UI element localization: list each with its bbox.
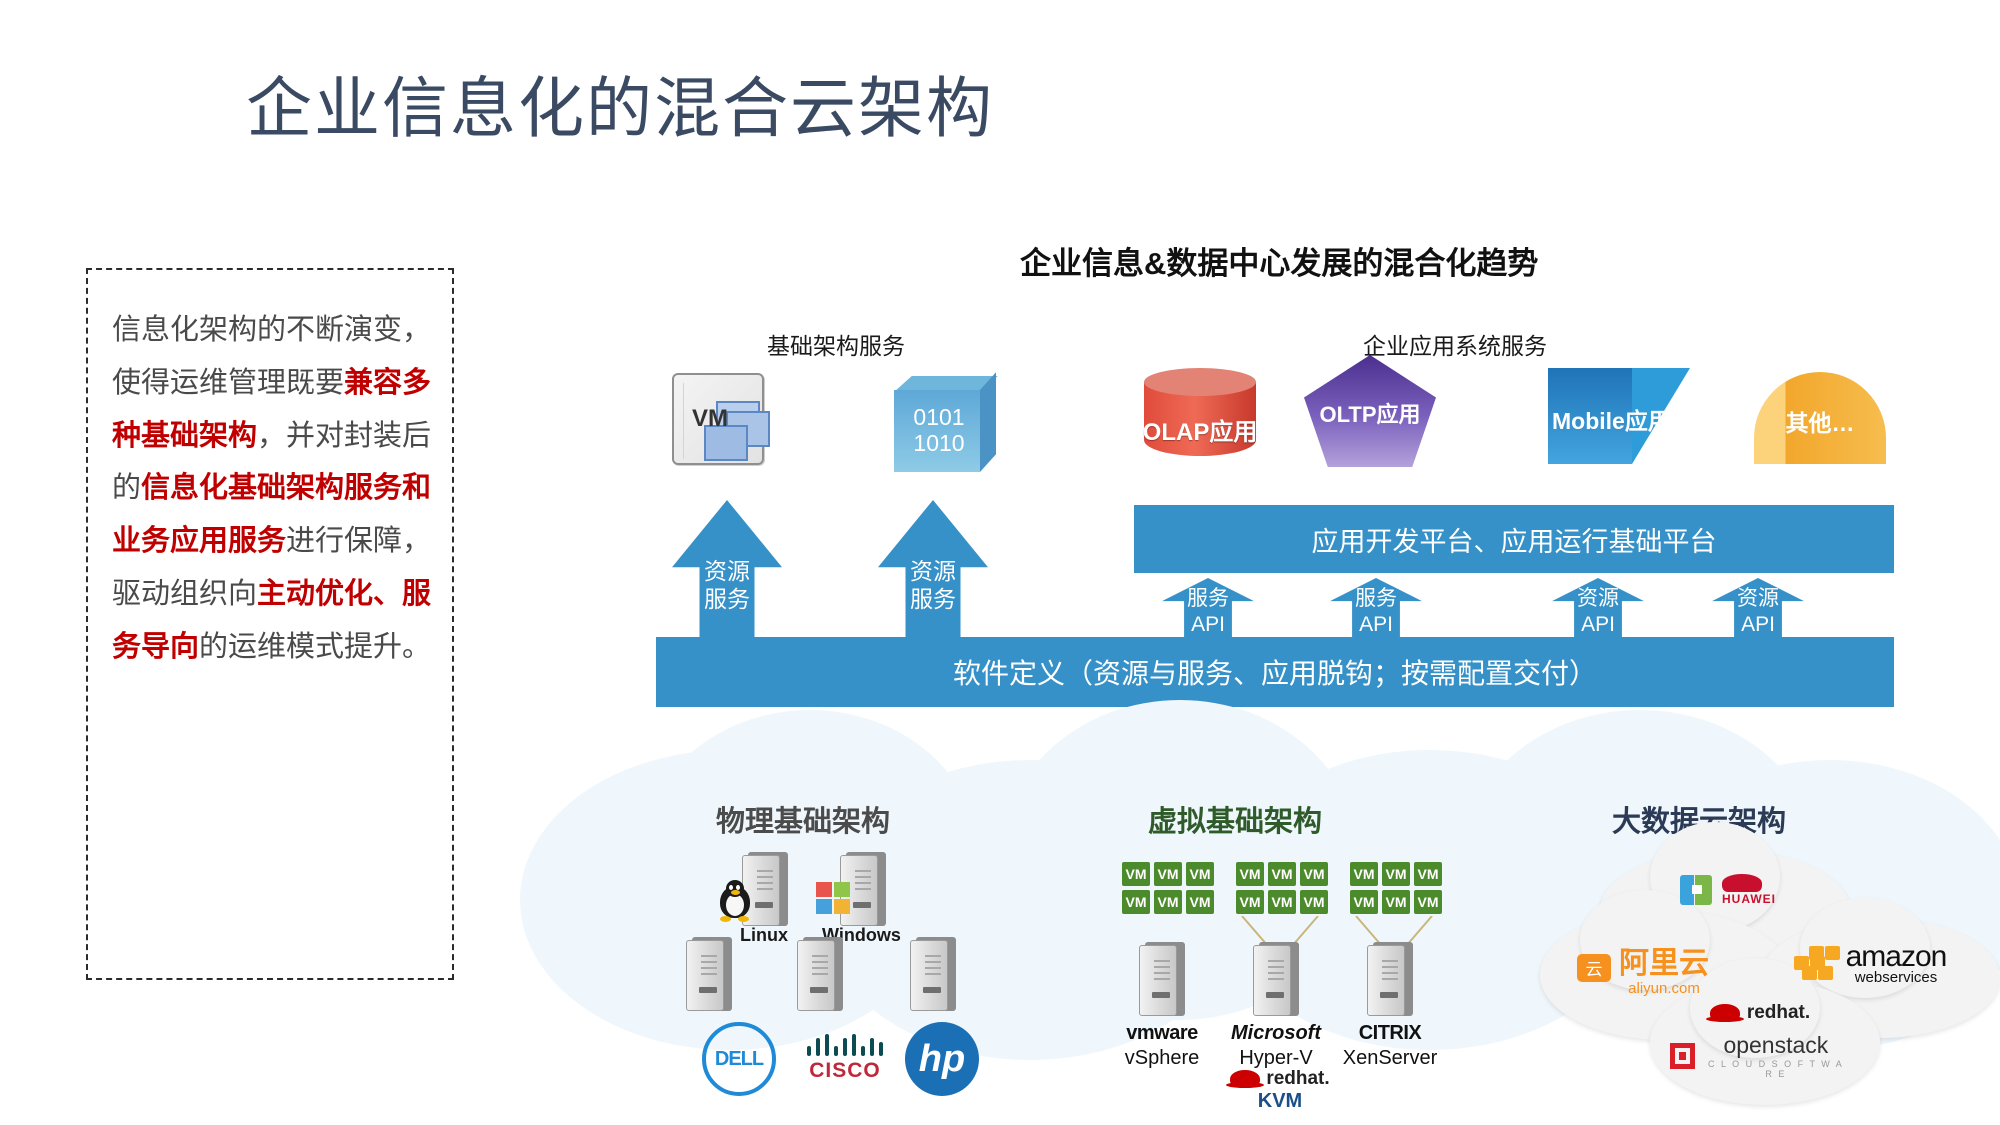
redhat-row-bigdata: redhat. <box>1670 1002 1850 1024</box>
page-title: 企业信息化的混合云架构 <box>246 55 994 151</box>
vm-label: VM <box>692 405 728 433</box>
vm-tile: VM <box>1268 862 1296 886</box>
openstack-row: openstack C L O U D S O F T W A R E <box>1670 1032 1850 1079</box>
aliyun-text-group: 阿里云 aliyun.com <box>1619 938 1709 997</box>
other-dome-shape: 其他… <box>1754 372 1886 464</box>
api-label-line2: API <box>1322 612 1430 638</box>
server-icon-extra-1 <box>686 937 732 1011</box>
vm-tile-grid-3: VM VM VM VM VM VM <box>1350 862 1442 914</box>
dell-logo: DELL <box>702 1022 776 1096</box>
linux-penguin-icon <box>718 880 752 922</box>
cisco-bars-icon <box>790 1032 900 1056</box>
os-label-linux: Linux <box>740 925 788 946</box>
vm-tile-grid-2: VM VM VM VM VM VM <box>1236 862 1328 914</box>
openstack-text-group: openstack C L O U D S O F T W A R E <box>1702 1032 1850 1079</box>
olap-cylinder-shape: OLAP应用 <box>1144 368 1256 464</box>
server-icon-vsphere <box>1139 942 1185 1016</box>
openstack-tagline: C L O U D S O F T W A R E <box>1702 1059 1850 1079</box>
service-api-arrow-1: 服务 API <box>1162 578 1254 646</box>
olap-label: OLAP应用 <box>1138 412 1262 447</box>
api-label-line1: 资源 <box>1544 586 1652 612</box>
other-label: 其他… <box>1754 404 1886 438</box>
vm-tile: VM <box>1414 890 1442 914</box>
aliyun-row: 云 阿里云 aliyun.com <box>1548 938 1738 997</box>
arrow-label-line1: 资源 <box>878 558 988 586</box>
api-label-line1: 服务 <box>1154 586 1262 612</box>
server-icon-xenserver <box>1367 942 1413 1016</box>
server-icon-extra-3 <box>910 937 956 1011</box>
vm-tile: VM <box>1350 890 1378 914</box>
mobile-shape: Mobile应用 <box>1548 368 1690 464</box>
caption-infrastructure-service: 基础架构服务 <box>767 327 905 361</box>
citrix-brand: CITRIX <box>1320 1022 1460 1045</box>
software-defined-bar: 软件定义（资源与服务、应用脱钩；按需配置交付） <box>656 637 1894 707</box>
vm-tile: VM <box>1300 862 1328 886</box>
vm-tile: VM <box>1350 862 1378 886</box>
cisco-wordmark: CISCO <box>790 1059 900 1083</box>
aliyun-wordmark-en: aliyun.com <box>1619 980 1709 997</box>
vm-tile: VM <box>1122 862 1150 886</box>
vm-tile: VM <box>1414 862 1442 886</box>
cube-side-face <box>980 372 996 472</box>
server-icon-extra-2 <box>797 937 843 1011</box>
resource-arrow-label-2: 资源 服务 <box>878 558 988 613</box>
api-arrow-label-3: 资源 API <box>1544 586 1652 639</box>
huawei-logo: HUAWEI <box>1648 874 1798 906</box>
aws-text-group: amazon webservices <box>1846 940 1947 986</box>
redhat-hat-icon <box>1710 1004 1740 1022</box>
openstack-mark-icon <box>1670 1043 1695 1069</box>
aliyun-mark-icon: 云 <box>1577 954 1611 982</box>
cube-binary-text: 0101 1010 <box>906 404 972 457</box>
api-label-line1: 服务 <box>1322 586 1430 612</box>
webservices-wordmark: webservices <box>1846 969 1947 986</box>
cloud-title-virtual: 虚拟基础架构 <box>1148 798 1322 840</box>
kvm-wordmark: KVM <box>1200 1090 1360 1113</box>
resource-api-arrow-1: 资源 API <box>1552 578 1644 646</box>
vm-stack-icon: VM <box>672 373 780 477</box>
resource-service-arrow-2: 资源 服务 <box>878 500 988 660</box>
cube-binary-line-2: 1010 <box>906 430 972 456</box>
api-arrow-label-4: 资源 API <box>1704 586 1812 639</box>
note-text: 信息化架构的不断演变，使得运维管理既要兼容多种基础架构，并对封装后的信息化基础架… <box>112 304 434 673</box>
note-segment-6: 的运维模式提升。 <box>199 631 431 663</box>
hp-logo: hp <box>905 1022 979 1096</box>
vm-tile-grid-1: VM VM VM VM VM VM <box>1122 862 1214 914</box>
panel-header: 企业信息&数据中心发展的混合化趋势 <box>1020 238 1538 283</box>
cloud-title-physical: 物理基础架构 <box>716 798 890 840</box>
resource-service-arrow-1: 资源 服务 <box>672 500 782 660</box>
service-api-arrow-2: 服务 API <box>1330 578 1422 646</box>
vm-tile: VM <box>1122 890 1150 914</box>
resource-api-arrow-2: 资源 API <box>1712 578 1804 646</box>
aliyun-logo: 云 阿里云 aliyun.com <box>1548 938 1738 997</box>
note-box: 信息化架构的不断演变，使得运维管理既要兼容多种基础架构，并对封装后的信息化基础架… <box>86 268 454 980</box>
oltp-label: OLTP应用 <box>1304 397 1436 429</box>
windows-flag-icon <box>816 882 852 916</box>
hypervisor-label-citrix: CITRIX XenServer <box>1320 1022 1460 1070</box>
app-platform-bar: 应用开发平台、应用运行基础平台 <box>1134 505 1894 573</box>
aws-logo: amazon webservices <box>1770 940 1970 986</box>
vm-tile: VM <box>1186 890 1214 914</box>
aliyun-wordmark-cn: 阿里云 <box>1619 938 1709 982</box>
vm-tile: VM <box>1236 890 1264 914</box>
vm-tile: VM <box>1154 890 1182 914</box>
arrow-label-line2: 服务 <box>672 586 782 614</box>
vm-tile: VM <box>1186 862 1214 886</box>
redhat-hat-icon <box>1230 1070 1260 1088</box>
vm-tile: VM <box>1268 890 1296 914</box>
cylinder-cap <box>1144 368 1256 396</box>
arrow-label-line1: 资源 <box>672 558 782 586</box>
api-label-line2: API <box>1704 612 1812 638</box>
citrix-product: XenServer <box>1320 1047 1460 1070</box>
vm-tile: VM <box>1154 862 1182 886</box>
api-arrow-label-1: 服务 API <box>1154 586 1262 639</box>
redhat-openstack-logo: redhat. openstack C L O U D S O F T W A … <box>1670 1002 1850 1079</box>
redhat-wordmark: redhat. <box>1266 1068 1329 1090</box>
vm-tile: VM <box>1300 890 1328 914</box>
redhat-kvm-logo: redhat. KVM <box>1200 1068 1360 1113</box>
redhat-wordmark-bigdata: redhat. <box>1747 1002 1810 1024</box>
vm-tile: VM <box>1382 890 1410 914</box>
aws-row: amazon webservices <box>1770 940 1970 986</box>
openstack-wordmark: openstack <box>1702 1032 1850 1059</box>
api-label-line2: API <box>1154 612 1262 638</box>
vm-tile: VM <box>1236 862 1264 886</box>
aws-cubes-icon <box>1794 946 1840 980</box>
huawei-flower-icon: HUAWEI <box>1722 874 1766 906</box>
mobile-label: Mobile应用 <box>1548 402 1690 436</box>
cisco-logo: CISCO <box>790 1032 900 1083</box>
server-icon-hyperv <box>1253 942 1299 1016</box>
slide-root: 企业信息化的混合云架构 信息化架构的不断演变，使得运维管理既要兼容多种基础架构，… <box>0 0 2000 1125</box>
cube-binary-line-1: 0101 <box>906 404 972 430</box>
resource-arrow-label-1: 资源 服务 <box>672 558 782 613</box>
oltp-pentagon-shape: OLTP应用 <box>1304 355 1436 467</box>
data-cube-icon: 0101 1010 <box>894 376 1006 472</box>
vm-tile: VM <box>1382 862 1410 886</box>
huawei-mark-icon <box>1680 875 1712 905</box>
api-label-line2: API <box>1544 612 1652 638</box>
huawei-wordmark: HUAWEI <box>1722 892 1766 906</box>
api-label-line1: 资源 <box>1704 586 1812 612</box>
redhat-row: redhat. <box>1200 1068 1360 1090</box>
api-arrow-label-2: 服务 API <box>1322 586 1430 639</box>
arrow-label-line2: 服务 <box>878 586 988 614</box>
